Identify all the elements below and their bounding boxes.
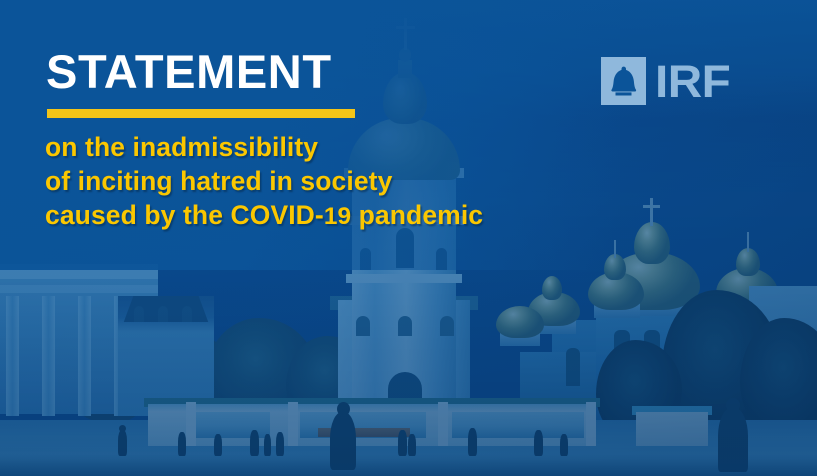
irf-wordmark: IRF: [655, 59, 730, 104]
irf-logo[interactable]: IRF: [601, 57, 726, 105]
statement-banner: STATEMENT on the inadmissibility of inci…: [0, 0, 817, 476]
subtitle-line-1: on the inadmissibility: [45, 130, 483, 164]
page-title: STATEMENT: [46, 48, 332, 95]
banner-content: STATEMENT on the inadmissibility of inci…: [0, 0, 817, 476]
subtitle-line-3: caused by the COVID-19 pandemic: [45, 198, 483, 232]
subtitle-line-3-figures: 19: [324, 203, 351, 230]
subtitle: on the inadmissibility of inciting hatre…: [45, 130, 483, 232]
bell-icon: [601, 57, 646, 105]
title-underline: [47, 109, 355, 118]
subtitle-line-2: of inciting hatred in society: [45, 164, 483, 198]
subtitle-line-3-before: caused by the COVID-: [45, 200, 324, 230]
subtitle-line-3-after: pandemic: [351, 200, 483, 230]
